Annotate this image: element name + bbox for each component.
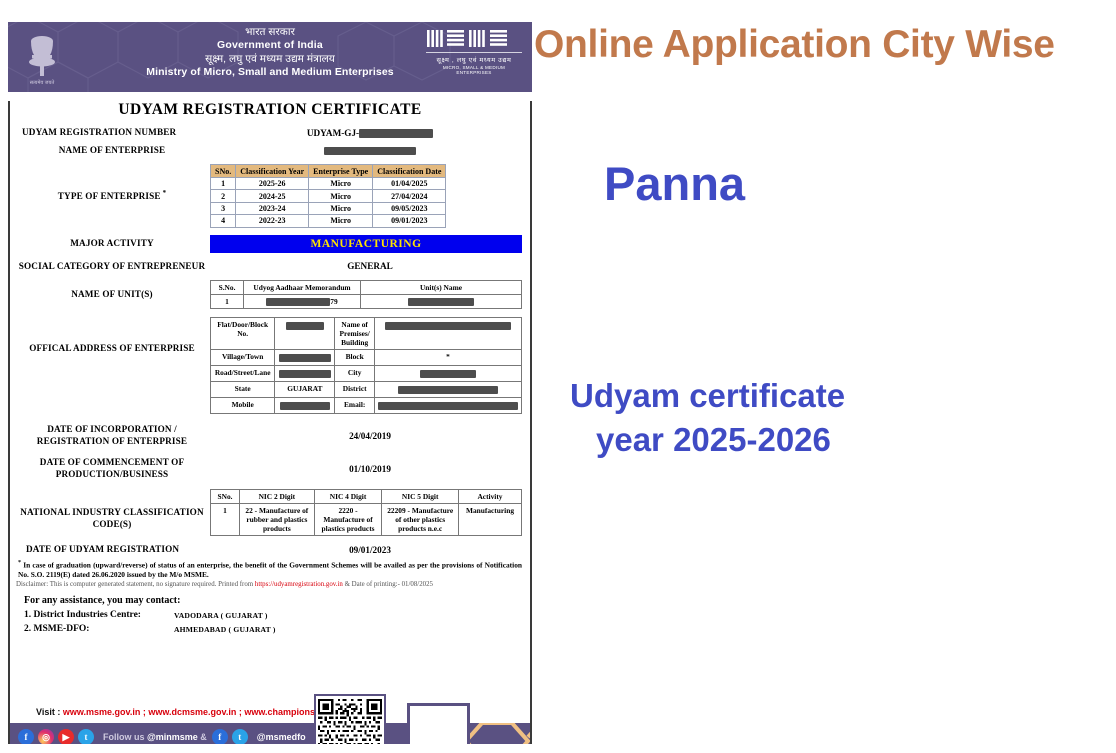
- key-city: City: [335, 366, 375, 382]
- th-unit-name: Unit(s) Name: [361, 281, 522, 295]
- key-state: State: [211, 382, 275, 398]
- redaction-bar: [378, 402, 518, 410]
- table-row: State GUJARAT District: [211, 382, 522, 398]
- table-row: Road/Street/Lane City: [211, 366, 522, 382]
- subtitle-line-1: Udyam certificate: [570, 377, 845, 414]
- enterprise-name-value: [210, 145, 530, 155]
- enterprise-type-row: TYPE OF ENTERPRISE * SNo. Classification…: [10, 164, 530, 228]
- official-address-label: OFFICAL ADDRESS OF ENTERPRISE: [10, 317, 210, 355]
- cell-type: Micro: [309, 190, 373, 202]
- svg-text:सत्यमेव जयते: सत्यमेव जयते: [30, 79, 55, 86]
- contact-dic: 1. District Industries Centre: VADODARA …: [10, 608, 530, 622]
- qr-code-icon: [318, 698, 382, 744]
- th-sno: SNo.: [211, 490, 240, 504]
- cell-sno: 3: [211, 202, 236, 214]
- table-row: Flat/Door/Block No. Name of Premises/ Bu…: [211, 318, 522, 350]
- key-block: Block: [335, 350, 375, 366]
- uam-suffix: 79: [330, 297, 337, 306]
- dour-value: 09/01/2023: [210, 545, 530, 555]
- redaction-bar: [420, 370, 476, 378]
- cell-sno: 1: [211, 295, 244, 309]
- cell-unit-name: [361, 295, 522, 309]
- contact-msme-dfo: 2. MSME-DFO: AHMEDABAD ( GUJARAT ): [10, 622, 530, 636]
- registration-number-value: UDYAM-GJ-: [210, 128, 530, 138]
- date-of-commencement-row: DATE OF COMMENCEMENT OF PRODUCTION/BUSIN…: [10, 457, 530, 480]
- cell-sno: 1: [211, 504, 240, 536]
- follow-prefix: Follow us: [103, 732, 147, 742]
- enterprise-type-label-text: TYPE OF ENTERPRISE: [58, 191, 161, 201]
- address-table: Flat/Door/Block No. Name of Premises/ Bu…: [210, 317, 522, 414]
- msme-dfo-label: 2. MSME-DFO:: [24, 624, 174, 634]
- table-row: Mobile Email:: [211, 398, 522, 414]
- visit-prefix: Visit :: [36, 707, 63, 717]
- table-row: 1 79: [211, 295, 522, 309]
- cell-date: 09/01/2023: [373, 215, 446, 227]
- key-mobile: Mobile: [211, 398, 275, 414]
- cell-nic2: 22 - Manufacture of rubber and plastics …: [240, 504, 315, 536]
- name-of-units-label: NAME OF UNIT(S): [10, 289, 210, 301]
- cell-year: 2023-24: [236, 202, 309, 214]
- doi-value: 24/04/2019: [210, 431, 530, 441]
- value-block: *: [375, 350, 522, 366]
- certificate-title: UDYAM REGISTRATION CERTIFICATE: [10, 101, 530, 119]
- th-nic5: NIC 5 Digit: [382, 490, 459, 504]
- cell-type: Micro: [309, 215, 373, 227]
- follow-us-text: Follow us @minmsme &: [103, 732, 207, 742]
- msme-dfo-value: AHMEDABAD ( GUJARAT ): [174, 624, 276, 634]
- graduation-note-text: In case of graduation (upward/reverse) o…: [18, 560, 522, 579]
- name-of-units-row: NAME OF UNIT(S) S.No. Udyog Aadhaar Memo…: [10, 280, 530, 309]
- value-road-street: [275, 366, 335, 382]
- docb-value: 01/10/2019: [210, 464, 530, 474]
- cell-type: Micro: [309, 178, 373, 190]
- facebook-icon-2[interactable]: f: [212, 729, 228, 744]
- value-village-town: [275, 350, 335, 366]
- table-row: 2 2024-25 Micro 27/04/2024: [211, 190, 446, 202]
- subtitle-line-2: year 2025-2026: [570, 418, 1090, 462]
- cell-sno: 4: [211, 215, 236, 227]
- table-row: 1 2025-26 Micro 01/04/2025: [211, 178, 446, 190]
- cell-year: 2024-25: [236, 190, 309, 202]
- msme-logo-hindi: सूक्ष्म , लघु एवं मध्यम उद्यम: [426, 52, 522, 64]
- youtube-icon[interactable]: ▶: [58, 729, 74, 744]
- cell-sno: 1: [211, 178, 236, 190]
- value-mobile: [275, 398, 335, 414]
- enterprise-type-label: TYPE OF ENTERPRISE *: [10, 189, 210, 203]
- social-category-value: GENERAL: [210, 261, 530, 271]
- th-sno: SNo.: [211, 165, 236, 178]
- cell-nic4: 2220 - Manufacture of plastics products: [314, 504, 382, 536]
- value-email: [375, 398, 522, 414]
- dic-label: 1. District Industries Centre:: [24, 610, 174, 620]
- redaction-bar: [385, 322, 511, 330]
- twitter-icon-2[interactable]: t: [232, 729, 248, 744]
- enterprise-type-table: SNo. Classification Year Enterprise Type…: [210, 164, 446, 228]
- enterprise-name-label: NAME OF ENTERPRISE: [10, 145, 210, 157]
- th-activity: Activity: [459, 490, 522, 504]
- city-name-heading: Panna: [604, 158, 1104, 210]
- visit-urls[interactable]: www.msme.gov.in ; www.dcmsme.gov.in ; ww…: [63, 707, 344, 717]
- cell-uam: 79: [244, 295, 361, 309]
- major-activity-value: MANUFACTURING: [210, 235, 522, 253]
- table-header-row: SNo. NIC 2 Digit NIC 4 Digit NIC 5 Digit…: [211, 490, 522, 504]
- facebook-icon[interactable]: f: [18, 729, 34, 744]
- redaction-bar: [359, 129, 433, 138]
- twitter-icon[interactable]: t: [78, 729, 94, 744]
- redaction-bar: [408, 298, 474, 306]
- slide-title: Online Application City Wise: [534, 24, 1114, 67]
- table-row: 3 2023-24 Micro 09/05/2023: [211, 202, 446, 214]
- certificate-header-banner: सत्यमेव जयते भारत सरकार Government of In…: [8, 22, 532, 92]
- table-header-row: S.No. Udyog Aadhaar Memorandum Unit(s) N…: [211, 281, 522, 295]
- nic-label: NATIONAL INDUSTRY CLASSIFICATION CODE(S): [10, 489, 210, 530]
- key-flat-door: Flat/Door/Block No.: [211, 318, 275, 350]
- th-nic2: NIC 2 Digit: [240, 490, 315, 504]
- key-road-street: Road/Street/Lane: [211, 366, 275, 382]
- blank-overlay-box: [407, 703, 470, 744]
- cell-date: 27/04/2024: [373, 190, 446, 202]
- nic-classification-row: NATIONAL INDUSTRY CLASSIFICATION CODE(S)…: [10, 489, 530, 536]
- th-classification-year: Classification Year: [236, 165, 309, 178]
- enterprise-name-row: NAME OF ENTERPRISE: [10, 145, 530, 157]
- certificate-body: UDYAM REGISTRATION CERTIFICATE UDYAM REG…: [8, 101, 532, 744]
- official-address-row: OFFICAL ADDRESS OF ENTERPRISE Flat/Door/…: [10, 317, 530, 414]
- nic-table: SNo. NIC 2 Digit NIC 4 Digit NIC 5 Digit…: [210, 489, 522, 536]
- table-row: 4 2022-23 Micro 09/01/2023: [211, 215, 446, 227]
- cell-year: 2025-26: [236, 178, 309, 190]
- handle-msmedfo[interactable]: @msmedfo: [257, 732, 306, 742]
- msme-logo: सूक्ष्म , लघु एवं मध्यम उद्यम MICRO, SMA…: [426, 28, 522, 75]
- cell-sno: 2: [211, 190, 236, 202]
- reg-number-prefix: UDYAM-GJ-: [307, 128, 359, 138]
- docb-label: DATE OF COMMENCEMENT OF PRODUCTION/BUSIN…: [10, 457, 210, 480]
- th-uam: Udyog Aadhaar Memorandum: [244, 281, 361, 295]
- follow-amp: &: [198, 732, 207, 742]
- key-district: District: [335, 382, 375, 398]
- date-of-incorporation-row: DATE OF INCORPORATION / REGISTRATION OF …: [10, 424, 530, 447]
- disclaimer-suffix: & Date of printing:- 01/08/2025: [343, 581, 433, 588]
- major-activity-label: MAJOR ACTIVITY: [10, 238, 210, 250]
- cell-date: 09/05/2023: [373, 202, 446, 214]
- redaction-bar: [280, 402, 330, 410]
- key-premises: Name of Premises/ Building: [335, 318, 375, 350]
- disclaimer-prefix: Disclaimer: This is computer generated s…: [16, 581, 255, 588]
- redaction-bar: [286, 322, 324, 330]
- th-enterprise-type: Enterprise Type: [309, 165, 373, 178]
- redaction-bar: [279, 354, 331, 362]
- value-flat-door: [275, 318, 335, 350]
- msme-wordmark-icon: [426, 28, 522, 50]
- doi-label: DATE OF INCORPORATION / REGISTRATION OF …: [10, 424, 210, 447]
- handle-minmsme[interactable]: @minmsme: [147, 732, 198, 742]
- udyam-portal-link[interactable]: https://udyamregistration.gov.in: [255, 581, 343, 588]
- registration-number-row: UDYAM REGISTRATION NUMBER UDYAM-GJ-: [10, 127, 530, 139]
- slide-canvas: सत्यमेव जयते भारत सरकार Government of In…: [0, 0, 1116, 753]
- table-row: 1 22 - Manufacture of rubber and plastic…: [211, 504, 522, 536]
- assistance-heading: For any assistance, you may contact:: [10, 589, 530, 608]
- udyam-certificate-image: सत्यमेव जयते भारत सरकार Government of In…: [8, 22, 532, 744]
- cell-activity: Manufacturing: [459, 504, 522, 536]
- value-state: GUJARAT: [275, 382, 335, 398]
- units-table: S.No. Udyog Aadhaar Memorandum Unit(s) N…: [210, 280, 522, 309]
- slide-subtitle: Udyam certificate year 2025-2026: [570, 374, 1090, 462]
- redaction-bar: [324, 147, 416, 155]
- redaction-bar: [398, 386, 498, 394]
- value-city: [375, 366, 522, 382]
- cell-type: Micro: [309, 202, 373, 214]
- major-activity-row: MAJOR ACTIVITY MANUFACTURING: [10, 235, 530, 253]
- th-sno: S.No.: [211, 281, 244, 295]
- redaction-bar: [266, 298, 330, 306]
- date-of-udyam-registration-row: DATE OF UDYAM REGISTRATION 09/01/2023: [10, 544, 530, 556]
- graduation-note: * In case of graduation (upward/reverse)…: [10, 559, 530, 580]
- table-row: Village/Town Block *: [211, 350, 522, 366]
- key-village-town: Village/Town: [211, 350, 275, 366]
- redaction-bar: [279, 370, 331, 378]
- table-header-row: SNo. Classification Year Enterprise Type…: [211, 165, 446, 178]
- th-nic4: NIC 4 Digit: [314, 490, 382, 504]
- cell-nic5: 22209 - Manufacture of other plastics pr…: [382, 504, 459, 536]
- value-premises: [375, 318, 522, 350]
- social-category-row: SOCIAL CATEGORY OF ENTREPRENEUR GENERAL: [10, 261, 530, 273]
- msme-logo-english: MICRO, SMALL & MEDIUM ENTERPRISES: [426, 65, 522, 75]
- qr-code[interactable]: [314, 694, 386, 744]
- value-district: [375, 382, 522, 398]
- key-email: Email:: [335, 398, 375, 414]
- dour-label: DATE OF UDYAM REGISTRATION: [10, 544, 210, 556]
- dic-value: VADODARA ( GUJARAT ): [174, 610, 268, 620]
- registration-number-label: UDYAM REGISTRATION NUMBER: [10, 127, 210, 139]
- cell-date: 01/04/2025: [373, 178, 446, 190]
- social-category-label: SOCIAL CATEGORY OF ENTREPRENEUR: [10, 261, 210, 273]
- th-classification-date: Classification Date: [373, 165, 446, 178]
- disclaimer-text: Disclaimer: This is computer generated s…: [10, 580, 530, 589]
- cell-year: 2022-23: [236, 215, 309, 227]
- instagram-icon[interactable]: ◎: [38, 729, 54, 744]
